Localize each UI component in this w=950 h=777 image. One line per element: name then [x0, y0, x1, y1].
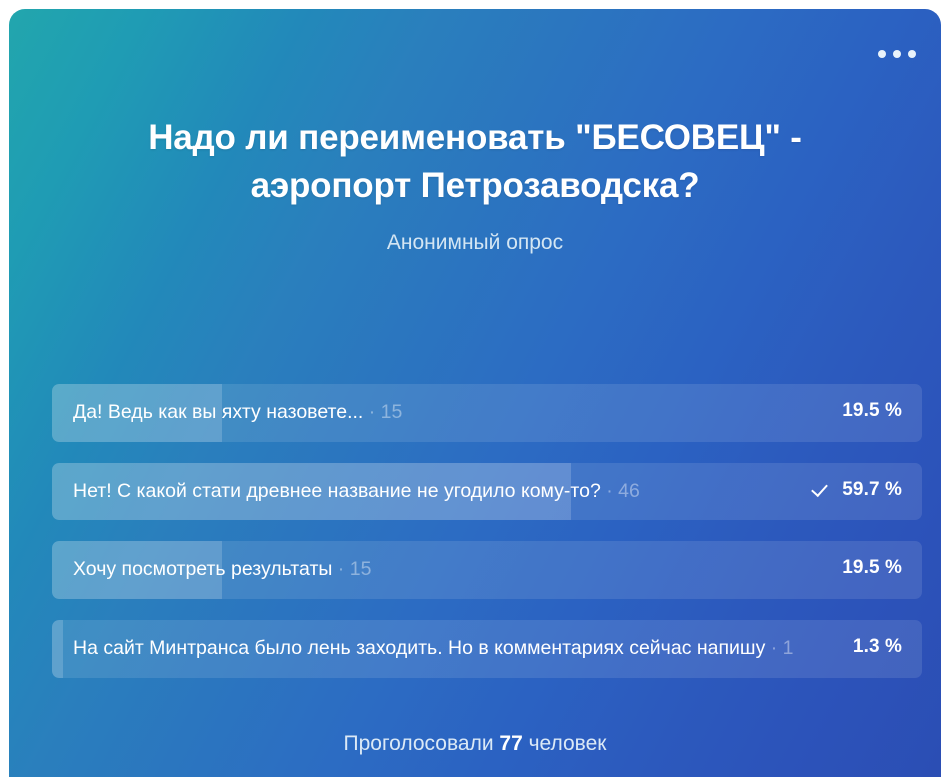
kebab-menu-icon[interactable] — [871, 39, 923, 69]
poll-footer: Проголосовали 77 человек — [9, 731, 941, 756]
kebab-dot-2 — [893, 50, 901, 58]
kebab-dot-1 — [878, 50, 886, 58]
poll-option-label: Хочу посмотреть результаты — [73, 558, 332, 580]
poll-option-label: Да! Ведь как вы яхту назовете... — [73, 401, 363, 423]
poll-card: Надо ли переименовать "БЕСОВЕЦ" - аэропо… — [9, 9, 941, 777]
poll-option-2[interactable]: Нет! С какой стати древнее название не у… — [52, 463, 922, 521]
poll-option-percent: 59.7 % — [842, 479, 902, 501]
footer-prefix: Проголосовали — [344, 732, 500, 755]
kebab-dot-3 — [908, 50, 916, 58]
poll-option-vote-count: · 15 — [332, 558, 371, 580]
poll-option-label: На сайт Минтранса было лень заходить. Но… — [73, 637, 765, 659]
poll-header: Надо ли переименовать "БЕСОВЕЦ" - аэропо… — [9, 114, 941, 255]
footer-vote-count: 77 — [499, 732, 522, 755]
poll-option-percent: 19.5 % — [842, 557, 902, 579]
poll-subtitle: Анонимный опрос — [69, 230, 881, 255]
poll-option-vote-count: · 46 — [601, 480, 640, 502]
poll-option-percent: 19.5 % — [842, 400, 902, 422]
poll-options-list: Да! Ведь как вы яхту назовете... · 1519.… — [52, 384, 922, 699]
page-title: Надо ли переименовать "БЕСОВЕЦ" - аэропо… — [69, 114, 881, 210]
poll-option-4[interactable]: На сайт Минтранса было лень заходить. Но… — [52, 620, 922, 678]
check-icon — [812, 480, 831, 499]
poll-option-percent: 1.3 % — [853, 636, 902, 658]
poll-option-3[interactable]: Хочу посмотреть результаты · 1519.5 % — [52, 541, 922, 599]
poll-option-vote-count: · 1 — [765, 637, 793, 659]
poll-option-vote-count: · 15 — [363, 401, 402, 423]
poll-option-1[interactable]: Да! Ведь как вы яхту назовете... · 1519.… — [52, 384, 922, 442]
footer-suffix: человек — [523, 732, 607, 755]
poll-option-label: Нет! С какой стати древнее название не у… — [73, 480, 601, 502]
